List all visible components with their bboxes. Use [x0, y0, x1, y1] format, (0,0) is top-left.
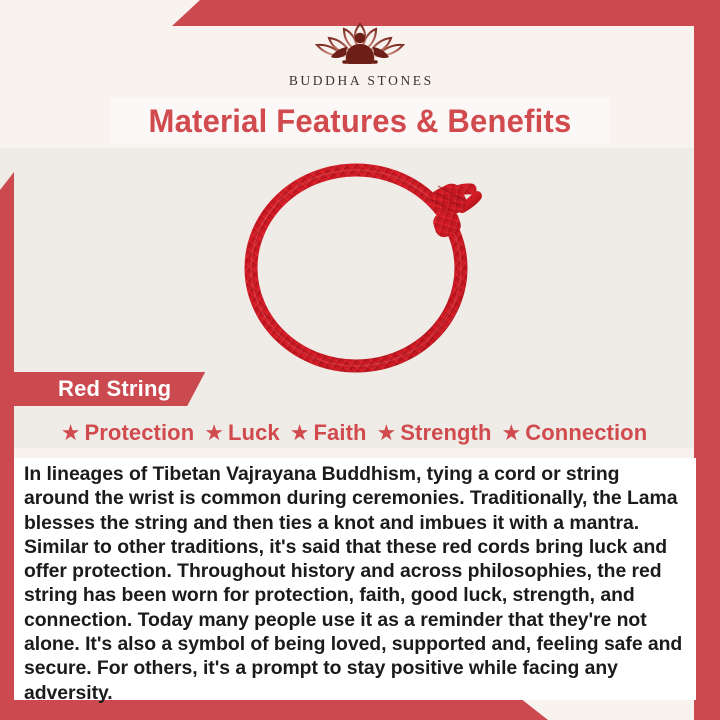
benefit-item-strength: ★ Strength: [377, 420, 492, 446]
product-feature-poster: BUDDHA STONES Material Features & Benefi…: [0, 0, 720, 720]
star-icon: ★: [290, 422, 310, 444]
benefits-row: ★ Protection ★ Luck ★ Faith ★ Strength ★…: [14, 420, 694, 446]
description-panel: In lineages of Tibetan Vajrayana Buddhis…: [14, 458, 696, 700]
star-icon: ★: [377, 422, 397, 444]
star-icon: ★: [502, 422, 522, 444]
product-name-ribbon: Red String: [14, 372, 205, 406]
benefit-item-connection: ★ Connection: [502, 420, 648, 446]
benefit-label: Connection: [525, 420, 647, 446]
brand-name: BUDDHA STONES: [0, 73, 720, 89]
benefit-label: Luck: [228, 420, 280, 446]
product-name-label: Red String: [58, 376, 171, 402]
benefit-label: Protection: [84, 420, 194, 446]
star-icon: ★: [204, 422, 224, 444]
benefit-label: Strength: [400, 420, 491, 446]
benefit-item-luck: ★ Luck: [204, 420, 279, 446]
benefit-item-faith: ★ Faith: [290, 420, 367, 446]
brand-logo: BUDDHA STONES: [0, 18, 720, 89]
benefit-label: Faith: [313, 420, 366, 446]
lotus-meditation-icon: [0, 18, 720, 70]
star-icon: ★: [61, 422, 81, 444]
description-text: In lineages of Tibetan Vajrayana Buddhis…: [24, 462, 686, 705]
benefit-item-protection: ★ Protection: [61, 420, 195, 446]
headline-banner: Material Features & Benefits: [110, 98, 610, 144]
page-title: Material Features & Benefits: [149, 103, 572, 140]
